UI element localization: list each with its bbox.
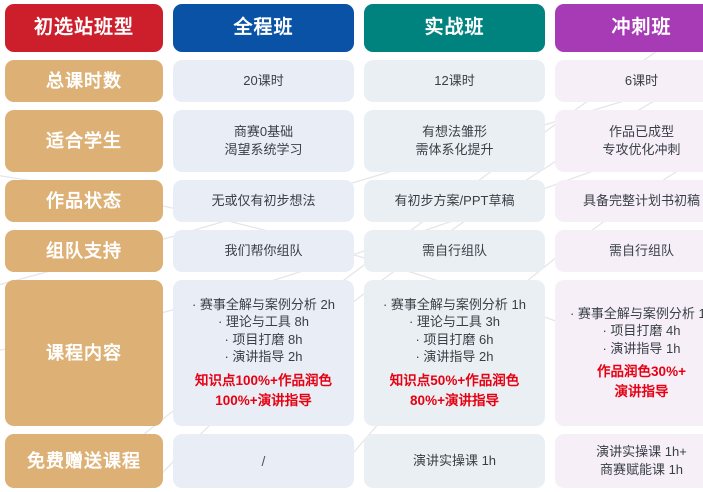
bullet-item: · 项目打磨 6h xyxy=(415,331,493,349)
bullet-list: · 赛事全解与案例分析 2h · 理论与工具 8h · 项目打磨 8h · 演讲… xyxy=(192,296,335,366)
bullet-item: · 演讲指导 2h xyxy=(224,348,302,366)
highlight-text: 知识点100%+作品润色 100%+演讲指导 xyxy=(195,371,332,410)
bullet-item: · 项目打磨 8h xyxy=(224,331,302,349)
bullet-item: · 赛事全解与案例分析 1h xyxy=(383,296,526,314)
cell-suitable-students-full: 商赛0基础 渴望系统学习 xyxy=(173,110,354,172)
header-cell-practical: 实战班 xyxy=(364,4,545,52)
text-line: 需体系化提升 xyxy=(415,141,493,159)
bullet-item: · 演讲指导 1h xyxy=(602,340,680,358)
highlight-line: 80%+演讲指导 xyxy=(410,391,499,411)
cell-free-bonus-practical: 演讲实操课 1h xyxy=(364,434,545,488)
cell-course-content-full: · 赛事全解与案例分析 2h · 理论与工具 8h · 项目打磨 8h · 演讲… xyxy=(173,280,354,426)
cell-total-hours-full: 20课时 xyxy=(173,60,354,102)
table-row: 作品状态 无或仅有初步想法 有初步方案/PPT草稿 具备完整计划书初稿 xyxy=(0,176,703,226)
table-header-row: 初选站班型 全程班 实战班 冲刺班 xyxy=(0,0,703,56)
cell-free-bonus-sprint: 演讲实操课 1h+ 商赛赋能课 1h xyxy=(555,434,703,488)
highlight-line: 知识点100%+作品润色 xyxy=(195,371,332,391)
bullet-item: · 赛事全解与案例分析 1h xyxy=(570,305,703,323)
highlight-line: 演讲指导 xyxy=(615,382,669,402)
bullet-item: · 理论与工具 8h xyxy=(218,313,309,331)
row-label-team-support: 组队支持 xyxy=(5,230,163,272)
text-line: 作品已成型 xyxy=(609,123,674,141)
header-cell-sprint: 冲刺班 xyxy=(555,4,703,52)
cell-suitable-students-practical: 有想法雏形 需体系化提升 xyxy=(364,110,545,172)
cell-work-status-full: 无或仅有初步想法 xyxy=(173,180,354,222)
cell-free-bonus-full: / xyxy=(173,434,354,488)
table-row: 免费赠送课程 / 演讲实操课 1h 演讲实操课 1h+ 商赛赋能课 1h xyxy=(0,430,703,492)
cell-total-hours-practical: 12课时 xyxy=(364,60,545,102)
table-row: 总课时数 20课时 12课时 6课时 xyxy=(0,56,703,106)
bullet-list: · 赛事全解与案例分析 1h · 理论与工具 3h · 项目打磨 6h · 演讲… xyxy=(383,296,526,366)
text-line: 商赛赋能课 1h xyxy=(600,461,683,479)
row-label-suitable-students: 适合学生 xyxy=(5,110,163,172)
bullet-item: · 演讲指导 2h xyxy=(415,348,493,366)
bullet-item: · 理论与工具 3h xyxy=(409,313,500,331)
text-line: 商赛0基础 xyxy=(234,123,293,141)
row-label-course-content: 课程内容 xyxy=(5,280,163,426)
highlight-line: 知识点50%+作品润色 xyxy=(390,371,519,391)
table-row: 组队支持 我们帮你组队 需自行组队 需自行组队 xyxy=(0,226,703,276)
highlight-line: 100%+演讲指导 xyxy=(215,391,311,411)
text-line: 渴望系统学习 xyxy=(224,141,302,159)
highlight-text: 作品润色30%+ 演讲指导 xyxy=(597,362,686,401)
bullet-item: · 赛事全解与案例分析 2h xyxy=(192,296,335,314)
cell-suitable-students-sprint: 作品已成型 专攻优化冲刺 xyxy=(555,110,703,172)
cell-course-content-practical: · 赛事全解与案例分析 1h · 理论与工具 3h · 项目打磨 6h · 演讲… xyxy=(364,280,545,426)
bullet-item: · 项目打磨 4h xyxy=(602,322,680,340)
table-row: 课程内容 · 赛事全解与案例分析 2h · 理论与工具 8h · 项目打磨 8h… xyxy=(0,276,703,430)
cell-team-support-sprint: 需自行组队 xyxy=(555,230,703,272)
row-label-free-bonus-course: 免费赠送课程 xyxy=(5,434,163,488)
cell-course-content-sprint: · 赛事全解与案例分析 1h · 项目打磨 4h · 演讲指导 1h 作品润色3… xyxy=(555,280,703,426)
cell-total-hours-sprint: 6课时 xyxy=(555,60,703,102)
row-label-work-status: 作品状态 xyxy=(5,180,163,222)
highlight-line: 作品润色30%+ xyxy=(597,362,686,382)
text-line: 有想法雏形 xyxy=(422,123,487,141)
cell-work-status-practical: 有初步方案/PPT草稿 xyxy=(364,180,545,222)
pricing-comparison-table: 初选站班型 全程班 实战班 冲刺班 总课时数 20课时 12课时 6课时 适合学… xyxy=(0,0,703,484)
table-row: 适合学生 商赛0基础 渴望系统学习 有想法雏形 需体系化提升 作品已成型 专攻优… xyxy=(0,106,703,176)
text-line: 专攻优化冲刺 xyxy=(602,141,680,159)
header-cell-full-course: 全程班 xyxy=(173,4,354,52)
row-label-total-hours: 总课时数 xyxy=(5,60,163,102)
text-line: 演讲实操课 1h+ xyxy=(596,443,687,461)
cell-team-support-full: 我们帮你组队 xyxy=(173,230,354,272)
cell-work-status-sprint: 具备完整计划书初稿 xyxy=(555,180,703,222)
cell-team-support-practical: 需自行组队 xyxy=(364,230,545,272)
highlight-text: 知识点50%+作品润色 80%+演讲指导 xyxy=(390,371,519,410)
bullet-list: · 赛事全解与案例分析 1h · 项目打磨 4h · 演讲指导 1h xyxy=(570,305,703,358)
header-cell-class-type: 初选站班型 xyxy=(5,4,163,52)
